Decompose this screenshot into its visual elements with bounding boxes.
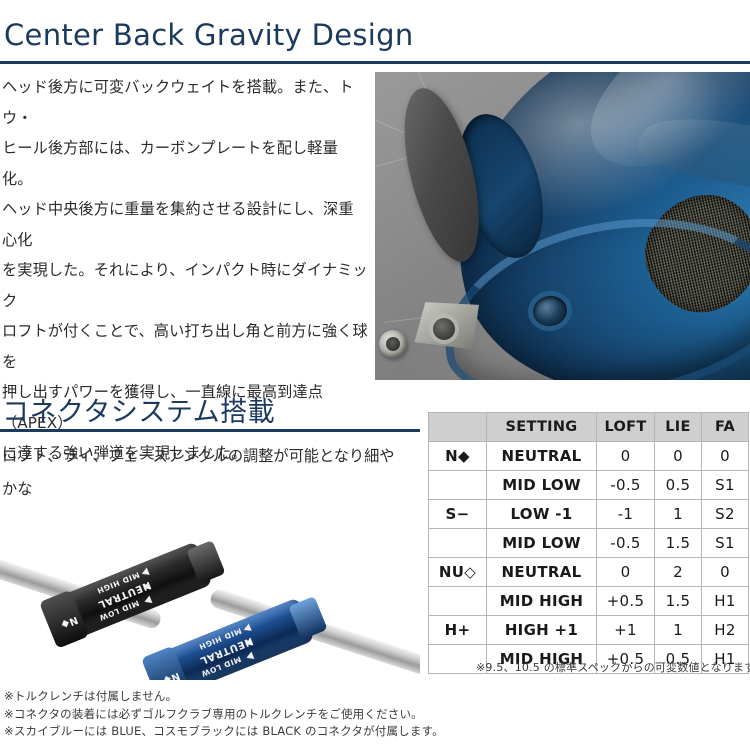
section1-body-line: ヘッド後方に可変バックウェイトを搭載。また、トウ・ xyxy=(2,72,368,133)
cell-lie: 2 xyxy=(655,558,702,587)
connector-arrow-icon xyxy=(143,596,152,606)
table-row: MID HIGH +0.5 1.5 H1 xyxy=(429,587,749,616)
disclaimer-line: ※スカイブルーには BLUE、コスモブラックには BLACK のコネクタが付属し… xyxy=(4,723,444,741)
cell-loft: +0.5 xyxy=(597,587,655,616)
spec-table-container: SETTING LOFT LIE FA N◆ NEUTRAL 0 0 0 MID… xyxy=(428,412,748,674)
section2-title-connector-system: コネクタシステム搭載 xyxy=(2,390,275,429)
section1-body-line: ヘッド中央後方に重量を集約させる設計にし、深重心化 xyxy=(2,194,368,255)
cell-code xyxy=(429,529,487,558)
connector-setting-table: SETTING LOFT LIE FA N◆ NEUTRAL 0 0 0 MID… xyxy=(428,412,749,674)
connector-arrow-icon xyxy=(242,623,251,633)
col-header-code xyxy=(429,413,487,442)
connector-black: MID HIGH NEUTRAL MID LOW N◆ xyxy=(45,541,212,644)
section1-body-line: を実現した。それにより、インパクト時にダイナミック xyxy=(2,255,368,316)
weight-bore xyxy=(433,318,455,340)
cell-fa: 0 xyxy=(702,558,749,587)
cell-fa: H2 xyxy=(702,616,749,645)
cell-code: N◆ xyxy=(429,442,487,471)
cell-setting: MID HIGH xyxy=(487,587,597,616)
section1-body-line: ロフトが付くことで、高い打ち出し角と前方に強く球を xyxy=(2,316,368,377)
cell-loft: -0.5 xyxy=(597,471,655,500)
page-title-center-back-gravity-design: Center Back Gravity Design xyxy=(4,18,414,52)
col-header-lie: LIE xyxy=(655,413,702,442)
cell-loft: 0 xyxy=(597,442,655,471)
weight-screw xyxy=(379,330,407,358)
cell-lie: 1 xyxy=(655,500,702,529)
section2-body-line: ロフト、ライ、フェースアングルの調整が可能となり細やかな xyxy=(2,440,402,506)
cell-code: NU◇ xyxy=(429,558,487,587)
cell-loft: -0.5 xyxy=(597,529,655,558)
col-header-fa: FA xyxy=(702,413,749,442)
cell-loft: +1 xyxy=(597,616,655,645)
table-row: N◆ NEUTRAL 0 0 0 xyxy=(429,442,749,471)
cell-setting: MID LOW xyxy=(487,529,597,558)
cell-code xyxy=(429,471,487,500)
spec-table-footnote: ※9.5、10.5 の標準スペックからの可変数値となります。 xyxy=(476,659,750,675)
cell-lie: 1.5 xyxy=(655,587,702,616)
section1-body-line: ヒール後方部には、カーボンプレートを配し軽量化。 xyxy=(2,133,368,194)
cell-code: H+ xyxy=(429,616,487,645)
table-row: H+ HIGH +1 +1 1 H2 xyxy=(429,616,749,645)
connector-cap xyxy=(186,540,225,584)
cell-lie: 0 xyxy=(655,442,702,471)
connector-shafts-image: MID HIGH NEUTRAL MID LOW N◆ MID HIGH NEU… xyxy=(0,508,420,680)
cell-code xyxy=(429,587,487,616)
cell-fa: S1 xyxy=(702,471,749,500)
col-header-loft: LOFT xyxy=(597,413,655,442)
bottom-disclaimer-notes: ※トルクレンチは付属しません。 ※コネクタの装着には必ずゴルフクラブ専用のトルク… xyxy=(4,688,444,741)
driver-head-render-image xyxy=(375,72,750,380)
cell-lie: 1 xyxy=(655,616,702,645)
table-row: MID LOW -0.5 0.5 S1 xyxy=(429,471,749,500)
connector-arrow-icon xyxy=(140,567,149,577)
table-row: MID LOW -0.5 1.5 S1 xyxy=(429,529,749,558)
connector-arrow-icon xyxy=(245,652,254,662)
table-header-row: SETTING LOFT LIE FA xyxy=(429,413,749,442)
cell-fa: S1 xyxy=(702,529,749,558)
cell-setting: LOW -1 xyxy=(487,500,597,529)
cell-fa: H1 xyxy=(702,587,749,616)
cell-setting: NEUTRAL xyxy=(487,442,597,471)
cell-fa: 0 xyxy=(702,442,749,471)
col-header-setting: SETTING xyxy=(487,413,597,442)
cell-lie: 0.5 xyxy=(655,471,702,500)
table-row: NU◇ NEUTRAL 0 2 0 xyxy=(429,558,749,587)
cell-lie: 1.5 xyxy=(655,529,702,558)
disclaimer-line: ※コネクタの装着には必ずゴルフクラブ専用のトルクレンチをご使用ください。 xyxy=(4,706,444,724)
cell-setting: NEUTRAL xyxy=(487,558,597,587)
cell-setting: MID LOW xyxy=(487,471,597,500)
cell-code: S− xyxy=(429,500,487,529)
table-row: S− LOW -1 -1 1 S2 xyxy=(429,500,749,529)
cell-loft: -1 xyxy=(597,500,655,529)
heading-rule-primary xyxy=(0,61,750,64)
cell-loft: 0 xyxy=(597,558,655,587)
disclaimer-line: ※トルクレンチは付属しません。 xyxy=(4,688,444,706)
cell-fa: S2 xyxy=(702,500,749,529)
heading-rule-secondary xyxy=(0,429,420,432)
cell-setting: HIGH +1 xyxy=(487,616,597,645)
